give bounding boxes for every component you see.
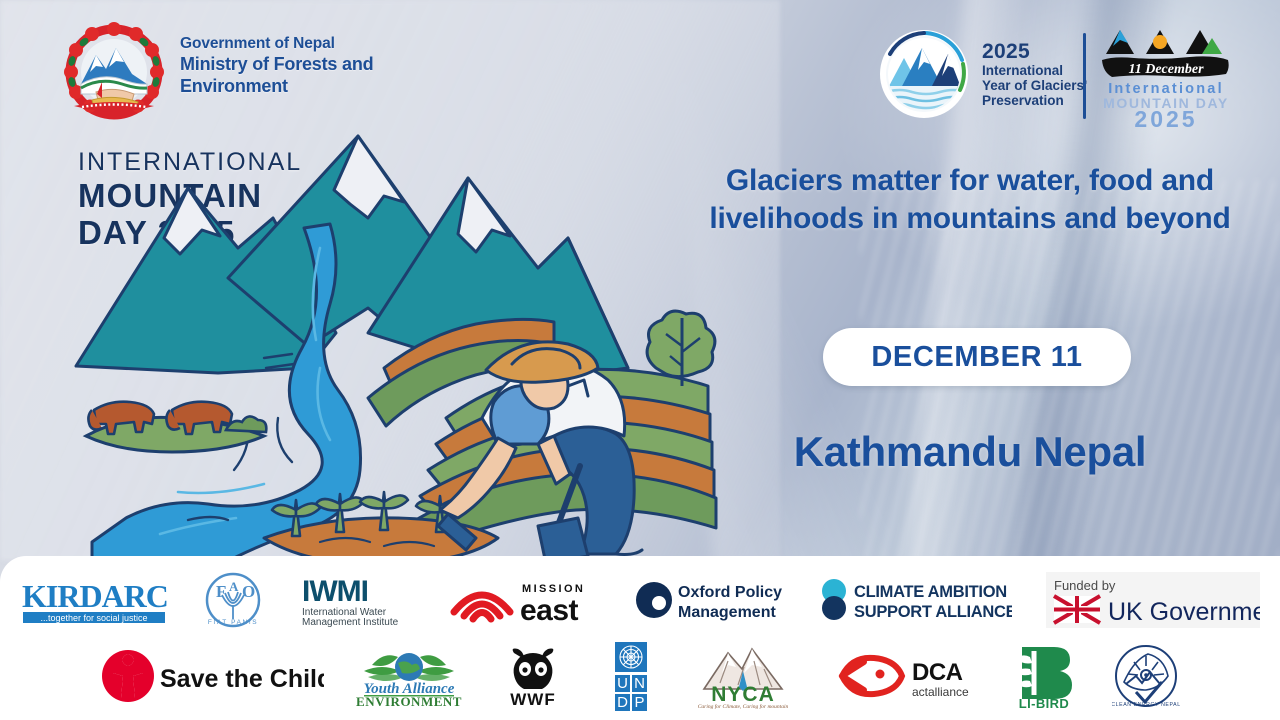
fao-icon: F O A FIAT PANIS (204, 571, 262, 629)
partner-logo-kirdarc[interactable]: KIRDARC ...together for social justice (20, 574, 170, 626)
svg-text:D: D (617, 694, 628, 711)
partner-logo-undp[interactable]: UN DP (602, 640, 660, 712)
iygp-year: 2025 (982, 40, 1087, 64)
svg-text:CLIMATE AMBITION: CLIMATE AMBITION (854, 583, 1007, 601)
dca-actalliance-icon: DCA actalliance (830, 648, 976, 704)
svg-text:P: P (634, 694, 644, 711)
partner-logo-clean-energy-nepal[interactable]: CLEAN ENERGY NEPAL (1112, 642, 1180, 710)
svg-text:DCA: DCA (912, 659, 963, 686)
uk-government-icon: Funded by UK Government (1046, 572, 1260, 628)
international-mountain-day-2025-logo-icon: 11 December International MOUNTAIN DAY 2… (1098, 24, 1234, 128)
partner-logo-save-the-children[interactable]: Save the Children (100, 647, 324, 705)
headline-text: Glaciers matter for water, food and live… (706, 162, 1234, 238)
svg-text:FIAT PANIS: FIAT PANIS (208, 619, 258, 626)
imd-logo-block: 11 December International MOUNTAIN DAY 2… (1098, 24, 1234, 128)
illustration-svg (68, 118, 718, 566)
svg-text:O: O (242, 582, 255, 601)
clean-energy-nepal-icon: CLEAN ENERGY NEPAL (1112, 642, 1180, 710)
undp-icon: UN DP (602, 640, 660, 712)
government-of-nepal-block: Government of Nepal Ministry of Forests … (62, 22, 373, 122)
svg-text:Funded by: Funded by (1054, 578, 1116, 593)
imd-2025-banner: Government of Nepal Ministry of Forests … (0, 0, 1280, 720)
svg-text:UK Government: UK Government (1108, 598, 1260, 626)
svg-text:U: U (617, 675, 628, 692)
partner-logo-oxford-policy-management[interactable]: Oxford Policy Management (634, 575, 782, 625)
svg-text:WWF: WWF (510, 690, 555, 707)
save-the-children-icon: Save the Children (100, 647, 324, 705)
svg-text:east: east (520, 594, 579, 626)
gon-line3: Environment (180, 76, 373, 98)
svg-text:LI-BIRD: LI-BIRD (1019, 696, 1069, 709)
oxford-policy-management-icon: Oxford Policy Management (634, 575, 782, 625)
svg-text:KIRDARC: KIRDARC (22, 578, 168, 614)
partner-logo-row-2: Save the Children Youth Alliance ENVIRON… (0, 638, 1280, 714)
svg-text:Save the Children: Save the Children (160, 665, 324, 693)
header-divider (1083, 33, 1086, 119)
glacier-circle-logo-icon (878, 28, 970, 120)
youth-alliance-for-environment-icon: Youth Alliance ENVIRONMENT (354, 643, 464, 709)
partner-logo-iwmi[interactable]: IWMI International Water Management Inst… (296, 573, 414, 627)
partner-logo-fao[interactable]: F O A FIAT PANIS (204, 571, 262, 629)
partner-logo-mission-east[interactable]: MISSION east (448, 574, 600, 626)
partner-logo-youth-alliance-for-environment[interactable]: Youth Alliance ENVIRONMENT (354, 643, 464, 709)
svg-text:actalliance: actalliance (912, 685, 969, 699)
svg-text:SUPPORT ALLIANCE: SUPPORT ALLIANCE (854, 603, 1012, 621)
svg-text:A: A (229, 579, 239, 594)
svg-text:11 December: 11 December (1128, 62, 1204, 77)
svg-text:Management Institute: Management Institute (302, 617, 399, 627)
li-bird-icon: LI-BIRD (1006, 643, 1082, 709)
partner-logo-dca-actalliance[interactable]: DCA actalliance (830, 648, 976, 704)
nyca-icon: NYCA Caring for Climate, Caring for moun… (690, 643, 800, 709)
svg-text:Management: Management (678, 604, 776, 621)
nepal-national-emblem-icon (62, 22, 166, 122)
iygp-logo-block: 2025 International Year of Glaciers' Pre… (878, 28, 1087, 120)
date-badge: DECEMBER 11 (823, 328, 1131, 386)
svg-text:F: F (216, 582, 226, 601)
iwmi-icon: IWMI International Water Management Inst… (296, 573, 414, 627)
svg-text:Caring for Climate, Caring for: Caring for Climate, Caring for mountain (698, 703, 789, 709)
mission-east-icon: MISSION east (448, 574, 600, 626)
partner-logo-uk-government[interactable]: Funded by UK Government (1046, 572, 1260, 628)
iygp-line3: Preservation (982, 93, 1087, 108)
svg-text:IWMI: IWMI (302, 575, 368, 608)
svg-text:2025: 2025 (1134, 106, 1197, 128)
partner-logo-li-bird[interactable]: LI-BIRD (1006, 643, 1082, 709)
svg-text:CLEAN ENERGY NEPAL: CLEAN ENERGY NEPAL (1112, 702, 1180, 708)
partner-logo-climate-ambition-support-alliance[interactable]: CLIMATE AMBITION SUPPORT ALLIANCE (816, 575, 1012, 625)
kirdarc-icon: KIRDARC ...together for social justice (20, 574, 170, 626)
svg-text:...together for social justice: ...together for social justice (40, 613, 147, 623)
mountain-river-farmer-illustration (68, 118, 718, 566)
iygp-line2: Year of Glaciers' (982, 78, 1087, 93)
gon-line1: Government of Nepal (180, 35, 373, 54)
location-text: Kathmandu Nepal (706, 428, 1234, 476)
gon-line2: Ministry of Forests and (180, 54, 373, 76)
climate-ambition-support-alliance-icon: CLIMATE AMBITION SUPPORT ALLIANCE (816, 575, 1012, 625)
svg-text:N: N (634, 675, 645, 692)
wwf-panda-icon: WWF (494, 645, 572, 707)
partner-logo-row-1: KIRDARC ...together for social justice F… (0, 566, 1280, 634)
date-badge-label: DECEMBER 11 (871, 341, 1082, 374)
iygp-line1: International (982, 63, 1087, 78)
partner-logo-wwf[interactable]: WWF (494, 645, 572, 707)
svg-text:Oxford Policy: Oxford Policy (678, 584, 782, 601)
partner-logo-nyca[interactable]: NYCA Caring for Climate, Caring for moun… (690, 643, 800, 709)
